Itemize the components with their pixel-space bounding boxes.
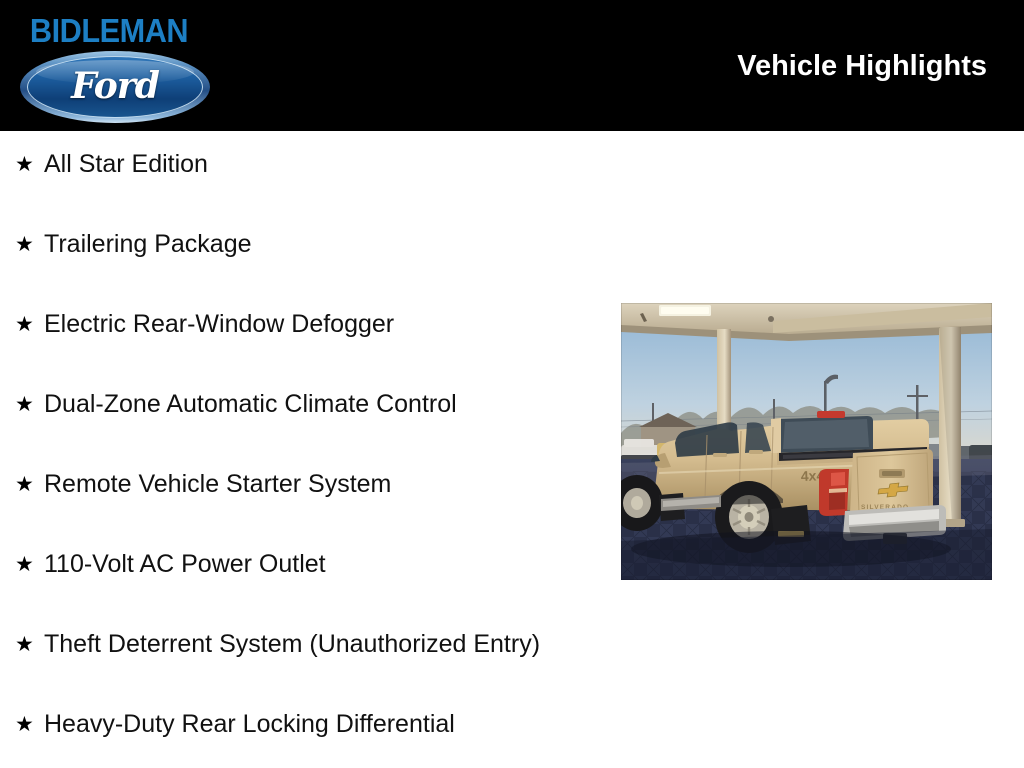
list-item: ★ Remote Vehicle Starter System [0,467,580,502]
list-item-label: 110-Volt AC Power Outlet [44,550,326,578]
list-item-label: Remote Vehicle Starter System [44,470,391,498]
star-bullet-icon: ★ [15,707,34,742]
star-bullet-icon: ★ [15,627,34,662]
list-item-label: Heavy-Duty Rear Locking Differential [44,710,455,738]
list-item-label: Theft Deterrent System (Unauthorized Ent… [44,630,540,658]
vehicle-photo[interactable]: 4x4 SILVERADO [621,303,992,580]
star-bullet-icon: ★ [15,227,34,262]
list-item: ★ Theft Deterrent System (Unauthorized E… [0,627,580,662]
star-bullet-icon: ★ [15,467,34,502]
list-item-label: Dual-Zone Automatic Climate Control [44,390,457,418]
dealership-logo[interactable]: BIDLEMAN Ford [12,14,217,124]
list-item: ★ Heavy-Duty Rear Locking Differential [0,707,580,742]
list-item: ★ Electric Rear-Window Defogger [0,307,580,342]
star-bullet-icon: ★ [15,307,34,342]
vehicle-photo-image: 4x4 SILVERADO [621,303,992,580]
list-item-label: Trailering Package [44,230,252,258]
vehicle-highlights-page: BIDLEMAN Ford Vehicle Highlights ★ All S… [0,0,1024,768]
star-bullet-icon: ★ [15,147,34,182]
list-item: ★ Dual-Zone Automatic Climate Control [0,387,580,422]
page-title: Vehicle Highlights [737,50,987,82]
list-item-label: All Star Edition [44,150,208,178]
page-header: BIDLEMAN Ford Vehicle Highlights [0,0,1024,131]
star-bullet-icon: ★ [15,547,34,582]
list-item: ★ Trailering Package [0,227,580,262]
ford-script-text: Ford [20,51,210,123]
list-item: ★ All Star Edition [0,147,580,182]
ford-oval-icon: Ford [20,51,210,123]
list-item-label: Electric Rear-Window Defogger [44,310,394,338]
brand-wordmark: BIDLEMAN [16,14,202,48]
vehicle-highlights-list: ★ All Star Edition ★ Trailering Package … [0,147,580,768]
list-item: ★ 110-Volt AC Power Outlet [0,547,580,582]
star-bullet-icon: ★ [15,387,34,422]
